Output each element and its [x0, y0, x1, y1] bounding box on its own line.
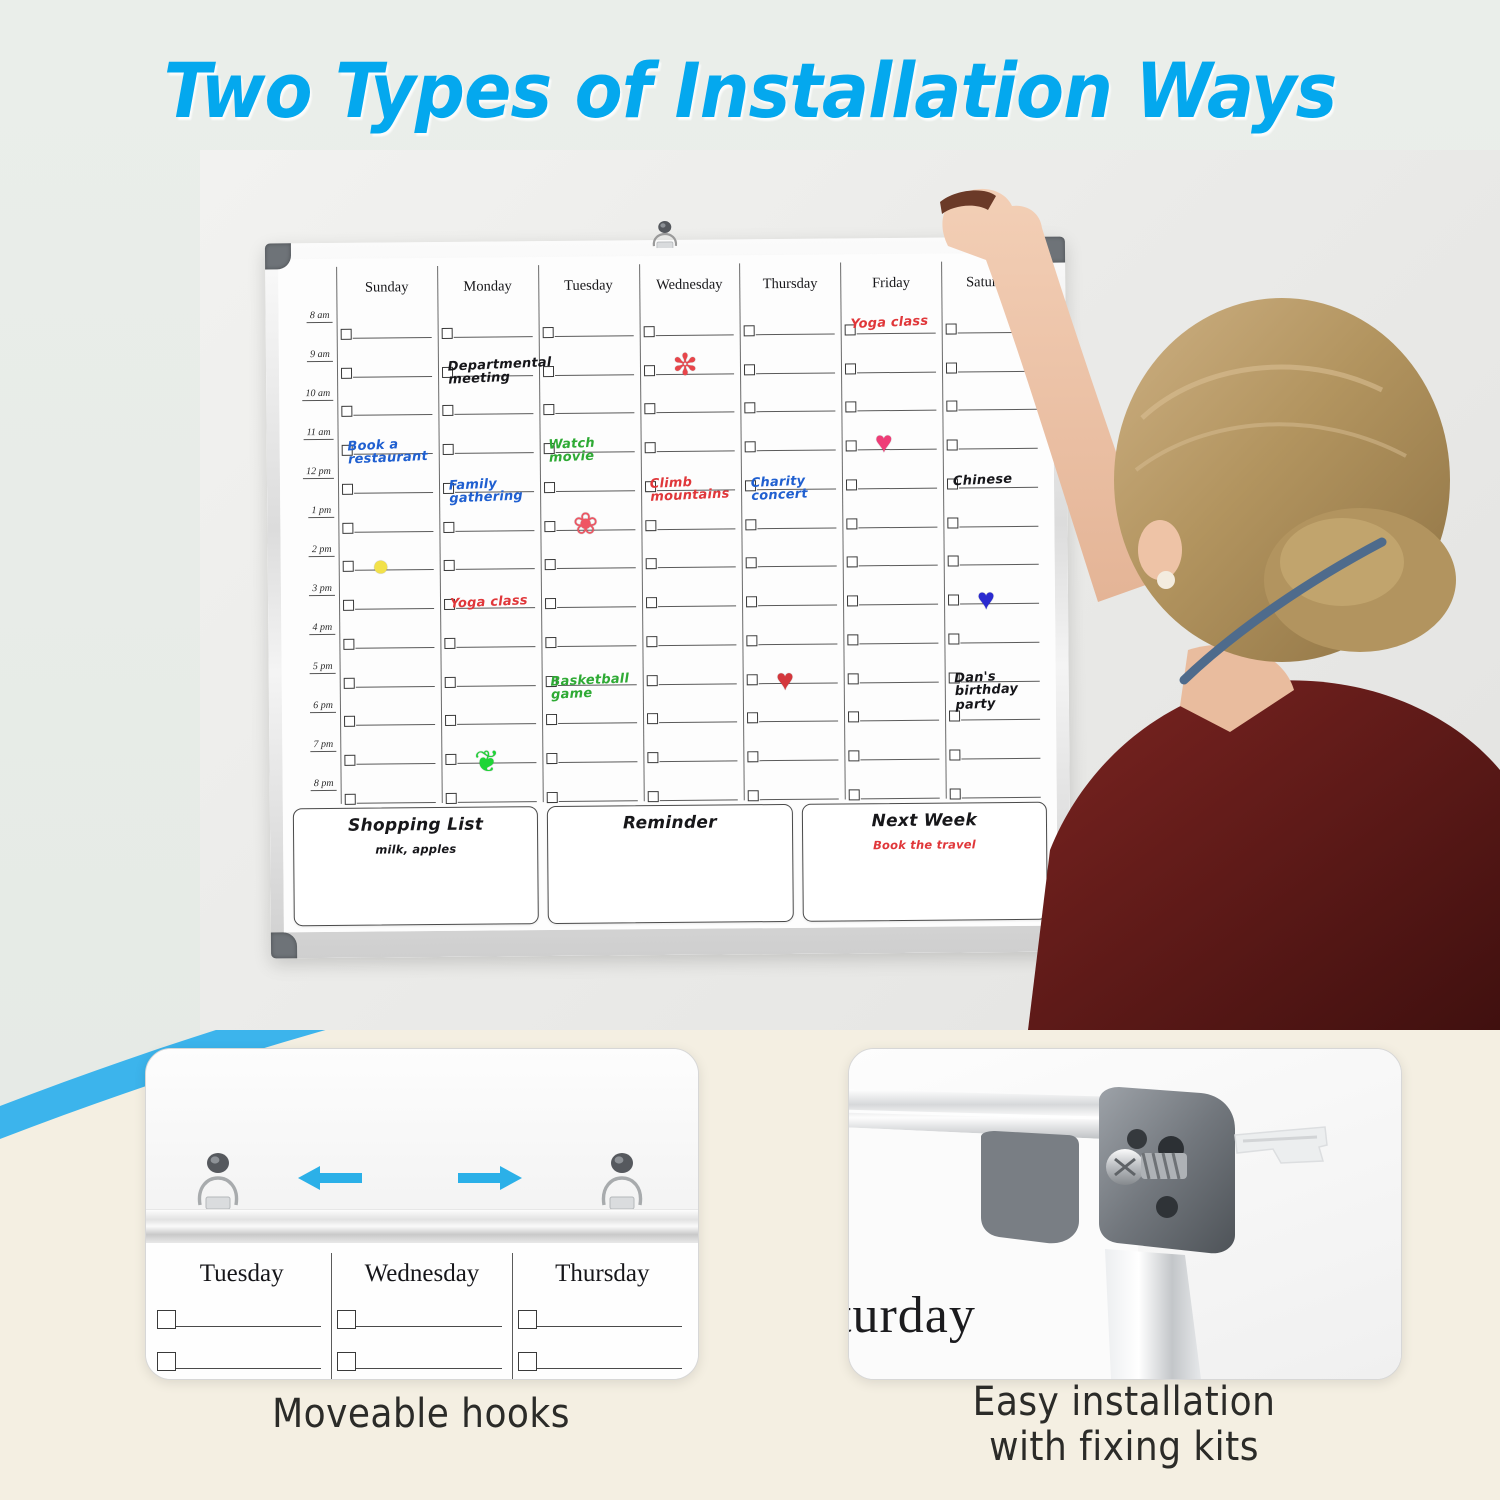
calendar-slot[interactable]	[742, 451, 842, 491]
calendar-slot[interactable]	[337, 299, 437, 339]
checkbox-icon[interactable]	[518, 1352, 537, 1371]
calendar-slot[interactable]	[341, 764, 441, 804]
inset-calendar-slot[interactable]	[152, 1295, 331, 1337]
day-header: Tuesday	[538, 264, 639, 298]
calendar-slot[interactable]	[341, 687, 441, 727]
write-line	[659, 798, 738, 801]
inset-calendar-slot[interactable]	[513, 1337, 692, 1379]
day-slots	[539, 297, 643, 802]
calendar-slot[interactable]	[540, 414, 640, 454]
day-header: Monday	[437, 265, 538, 299]
inset-calendar-slot[interactable]	[332, 1337, 511, 1379]
inset-day-column-thursday: Thursday	[512, 1253, 692, 1379]
calendar-slot[interactable]	[843, 488, 943, 528]
checkbox-icon[interactable]	[337, 1310, 356, 1329]
inset-calendar-slot[interactable]	[332, 1295, 511, 1337]
moveable-hook-icon[interactable]	[594, 1145, 650, 1209]
checkbox-icon[interactable]	[518, 1310, 537, 1329]
checkbox-icon[interactable]	[446, 793, 457, 804]
time-label: 11 am	[285, 414, 337, 453]
page-title: Two Types of Installation Ways	[60, 46, 1440, 135]
checkbox-icon[interactable]	[849, 789, 860, 800]
hanging-hook-icon	[647, 218, 683, 248]
calendar-slot[interactable]	[843, 411, 943, 451]
calendar-slot[interactable]	[440, 492, 540, 532]
calendar-slot[interactable]	[541, 530, 641, 570]
day-column-monday: Monday	[437, 265, 543, 803]
write-line	[176, 1367, 321, 1369]
note-box-shopping-list[interactable]: Shopping Listmilk, apples	[293, 806, 539, 926]
checkbox-icon[interactable]	[345, 794, 356, 805]
write-line	[861, 797, 940, 800]
calendar-slot[interactable]	[340, 648, 440, 688]
hero-photo: 8 am9 am10 am11 am12 pm1 pm2 pm3 pm4 pm5…	[0, 150, 1500, 1030]
calendar-slot[interactable]	[541, 491, 641, 531]
calendar-slot[interactable]	[640, 296, 740, 336]
calendar-slot[interactable]	[441, 569, 541, 609]
calendar-slot[interactable]	[539, 297, 639, 337]
inset-day-header: Tuesday	[152, 1253, 331, 1295]
day-slots	[337, 299, 441, 804]
time-label: 7 pm	[288, 726, 340, 765]
day-column-tuesday: Tuesday	[538, 264, 644, 802]
calendar-slot[interactable]	[438, 298, 538, 338]
calendar-slot[interactable]	[744, 644, 844, 684]
inset-calendar-slot[interactable]	[152, 1337, 331, 1379]
calendar-slot[interactable]	[339, 493, 439, 533]
calendar-slot[interactable]	[745, 761, 845, 801]
calendar-slot[interactable]	[643, 645, 743, 685]
calendar-slot[interactable]	[644, 762, 744, 802]
time-label: 3 pm	[287, 570, 339, 609]
inset-day-columns: TuesdayWednesdayThursday	[146, 1253, 698, 1379]
calendar-slot[interactable]	[338, 338, 438, 378]
calendar-slot[interactable]	[340, 609, 440, 649]
calendar-slot[interactable]	[641, 451, 741, 491]
calendar-slot[interactable]	[338, 415, 438, 455]
calendar-slot[interactable]	[743, 489, 843, 529]
time-label: 6 pm	[288, 687, 340, 726]
calendar-slot[interactable]	[442, 725, 542, 765]
calendar-slot[interactable]	[441, 608, 541, 648]
caption-line-2: with fixing kits	[989, 1424, 1259, 1470]
write-line	[356, 1367, 501, 1369]
write-line	[176, 1325, 321, 1327]
calendar-slot[interactable]	[745, 722, 845, 762]
write-line	[558, 799, 637, 802]
day-slots	[640, 296, 744, 801]
time-axis-column: 8 am9 am10 am11 am12 pm1 pm2 pm3 pm4 pm5…	[284, 267, 341, 804]
calendar-slot[interactable]	[842, 295, 942, 335]
checkbox-icon[interactable]	[157, 1352, 176, 1371]
write-line	[458, 800, 537, 803]
calendar-slot[interactable]	[340, 570, 440, 610]
calendar-slot[interactable]	[442, 686, 542, 726]
day-column-sunday: Sunday	[336, 266, 442, 804]
time-label: 5 pm	[287, 648, 339, 687]
calendar-slot[interactable]	[741, 295, 841, 335]
calendar-slot[interactable]	[642, 490, 742, 530]
write-line	[760, 797, 839, 800]
inset-day-header: Thursday	[513, 1253, 692, 1295]
calendar-slot[interactable]	[341, 725, 441, 765]
day-header: Sunday	[336, 266, 437, 300]
calendar-slot[interactable]	[640, 335, 740, 375]
day-column-wednesday: Wednesday	[639, 263, 745, 801]
write-line	[537, 1367, 682, 1369]
checkbox-icon[interactable]	[546, 792, 557, 803]
calendar-slot[interactable]	[542, 685, 642, 725]
time-label: 9 am	[285, 336, 337, 375]
note-box-title: Shopping List	[348, 815, 483, 836]
calendar-slot[interactable]	[540, 375, 640, 415]
calendar-slot[interactable]	[441, 647, 541, 687]
calendar-slot[interactable]	[442, 763, 542, 803]
checkbox-icon[interactable]	[157, 1310, 176, 1329]
caption-line-1: Easy installation	[973, 1379, 1276, 1425]
whiteboard-top-rail	[145, 1209, 699, 1244]
time-label: 2 pm	[286, 531, 338, 570]
time-label: 8 pm	[288, 765, 340, 804]
day-header: Friday	[840, 262, 941, 296]
calendar-slot[interactable]	[642, 529, 742, 569]
checkbox-icon[interactable]	[748, 790, 759, 801]
write-line	[357, 801, 436, 804]
calendar-slot[interactable]	[741, 334, 841, 374]
calendar-slot[interactable]	[540, 452, 640, 492]
checkbox-icon[interactable]	[647, 791, 658, 802]
caption-easy-installation: Easy installation with fixing kits	[876, 1380, 1373, 1470]
time-label: 12 pm	[286, 453, 338, 492]
calendar-slot[interactable]	[643, 684, 743, 724]
person-hanging-whiteboard	[930, 150, 1500, 1030]
inset-easy-installation: turday	[848, 1048, 1402, 1380]
calendar-slot[interactable]	[842, 372, 942, 412]
calendar-slot[interactable]	[844, 527, 944, 567]
calendar-slot[interactable]	[843, 450, 943, 490]
calendar-slot[interactable]	[539, 336, 639, 376]
day-column-thursday: Thursday	[740, 262, 846, 800]
calendar-slot[interactable]	[842, 333, 942, 373]
frame-corner-cap	[271, 932, 297, 958]
calendar-slot[interactable]	[338, 377, 438, 417]
calendar-slot[interactable]	[642, 568, 742, 608]
arrow-left-icon	[298, 1165, 362, 1191]
partial-day-label: turday	[848, 1286, 976, 1345]
calendar-slot[interactable]	[439, 337, 539, 377]
day-slots	[438, 298, 542, 803]
caption-moveable-hooks: Moveable hooks	[173, 1392, 670, 1437]
calendar-slot[interactable]	[744, 606, 844, 646]
calendar-slot[interactable]	[643, 606, 743, 646]
calendar-slot[interactable]	[743, 567, 843, 607]
calendar-slot[interactable]	[440, 453, 540, 493]
write-line	[537, 1325, 682, 1327]
note-box-title: Reminder	[623, 813, 717, 834]
day-slots	[741, 295, 845, 800]
inset-calendar-slot[interactable]	[513, 1295, 692, 1337]
inset-day-column-wednesday: Wednesday	[331, 1253, 511, 1379]
day-header: Wednesday	[639, 263, 740, 297]
calendar-slot[interactable]	[439, 376, 539, 416]
calendar-slot[interactable]	[543, 762, 643, 802]
checkbox-icon[interactable]	[337, 1352, 356, 1371]
calendar-slot[interactable]	[440, 531, 540, 571]
calendar-slot[interactable]	[339, 532, 439, 572]
day-header: Thursday	[740, 262, 841, 296]
arrow-right-icon	[458, 1165, 522, 1191]
calendar-slot[interactable]	[744, 683, 844, 723]
calendar-slot[interactable]	[641, 413, 741, 453]
time-label: 8 am	[284, 297, 336, 336]
calendar-slot[interactable]	[741, 373, 841, 413]
time-label: 1 pm	[286, 492, 338, 531]
time-label: 10 am	[285, 375, 337, 414]
inset-day-column-tuesday: Tuesday	[152, 1253, 331, 1379]
inset-moveable-hooks: TuesdayWednesdayThursday	[145, 1048, 699, 1380]
moveable-hook-icon[interactable]	[190, 1145, 246, 1209]
calendar-slot[interactable]	[641, 374, 741, 414]
calendar-slot[interactable]	[542, 646, 642, 686]
time-label: 4 pm	[287, 609, 339, 648]
calendar-slot[interactable]	[742, 412, 842, 452]
calendar-slot[interactable]	[644, 723, 744, 763]
write-line	[356, 1325, 501, 1327]
calendar-slot[interactable]	[543, 724, 643, 764]
calendar-slot[interactable]	[542, 607, 642, 647]
calendar-slot[interactable]	[743, 528, 843, 568]
note-box-reminder[interactable]: Reminder	[547, 804, 793, 924]
calendar-slot[interactable]	[439, 414, 539, 454]
calendar-slot[interactable]	[339, 454, 439, 494]
note-box-body: milk, apples	[375, 842, 456, 857]
calendar-slot[interactable]	[541, 569, 641, 609]
inset-day-header: Wednesday	[332, 1253, 511, 1295]
